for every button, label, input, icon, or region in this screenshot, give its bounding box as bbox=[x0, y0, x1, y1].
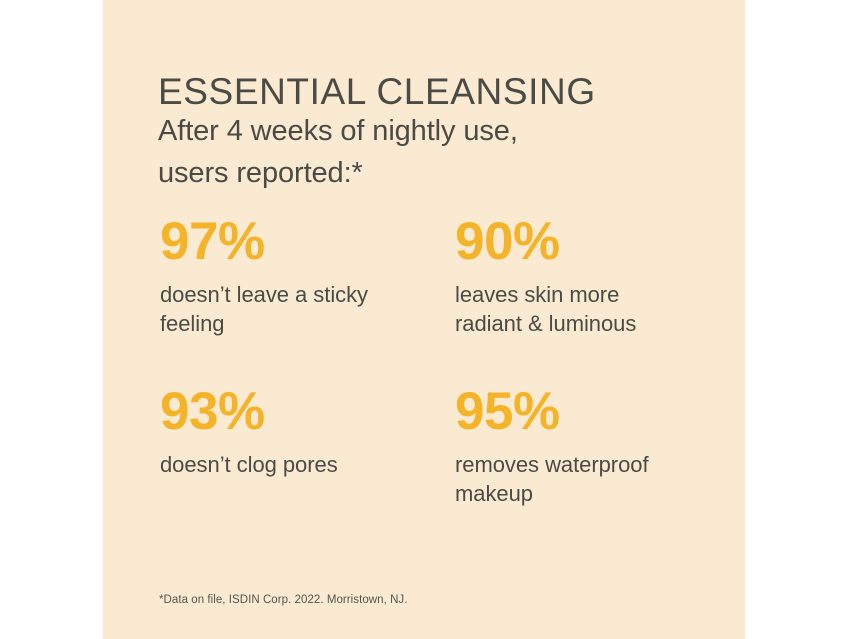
stat-label: removes waterproof makeup bbox=[455, 450, 687, 508]
stat-value: 93% bbox=[160, 383, 420, 441]
stat-value: 95% bbox=[455, 383, 715, 441]
footnote: *Data on file, ISDIN Corp. 2022. Morrist… bbox=[159, 592, 407, 608]
stat-block-95: 95% removes waterproof makeup bbox=[455, 383, 715, 508]
stat-block-97: 97% doesn’t leave a sticky feeling bbox=[160, 213, 420, 338]
content-column: ESSENTIAL CLEANSING After 4 weeks of nig… bbox=[158, 0, 718, 639]
stat-value: 97% bbox=[160, 213, 420, 271]
stat-block-90: 90% leaves skin more radiant & luminous bbox=[455, 213, 715, 338]
page-title: ESSENTIAL CLEANSING bbox=[158, 69, 596, 115]
page-subtitle-line-2: users reported:* bbox=[158, 152, 698, 194]
stat-block-93: 93% doesn’t clog pores bbox=[160, 383, 420, 479]
cream-panel: ESSENTIAL CLEANSING After 4 weeks of nig… bbox=[103, 0, 745, 639]
page-subtitle-line-1: After 4 weeks of nightly use, bbox=[158, 110, 698, 152]
stat-label: doesn’t leave a sticky feeling bbox=[160, 280, 392, 338]
stat-label: leaves skin more radiant & luminous bbox=[455, 280, 687, 338]
stat-value: 90% bbox=[455, 213, 715, 271]
infographic-canvas: ESSENTIAL CLEANSING After 4 weeks of nig… bbox=[0, 0, 852, 639]
page-subtitle: After 4 weeks of nightly use, users repo… bbox=[158, 110, 698, 194]
stat-label: doesn’t clog pores bbox=[160, 450, 392, 479]
